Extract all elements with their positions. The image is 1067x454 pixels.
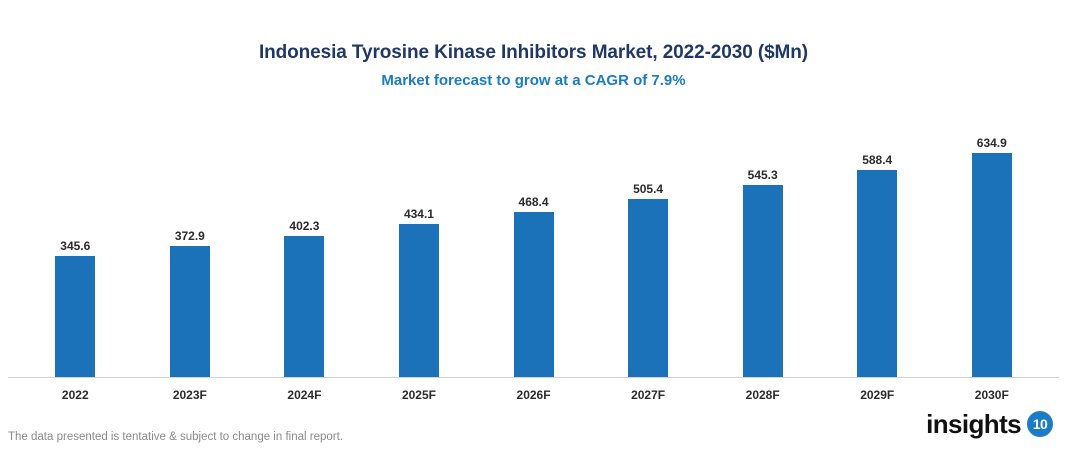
axis-baseline — [8, 377, 1059, 378]
bar-value-label: 372.9 — [175, 230, 205, 242]
x-axis-label: 2025F — [362, 379, 477, 402]
bar-2025F[interactable] — [399, 224, 439, 378]
x-axis-label: 2026F — [476, 379, 591, 402]
x-axis-label: 2024F — [247, 379, 362, 402]
chart-plot-area: 345.6 372.9 402.3 434.1 468.4 505.4 545.… — [0, 108, 1067, 378]
bar-group: 468.4 — [476, 108, 591, 378]
x-axis-label: 2028F — [705, 379, 820, 402]
bar-value-label: 434.1 — [404, 208, 434, 220]
x-axis-label: 2027F — [591, 379, 706, 402]
bar-group: 545.3 — [705, 108, 820, 378]
insights10-logo: insights 10 — [926, 411, 1053, 437]
bar-2024F[interactable] — [284, 236, 324, 379]
bar-group: 402.3 — [247, 108, 362, 378]
chart-header: Indonesia Tyrosine Kinase Inhibitors Mar… — [0, 0, 1067, 89]
x-axis-label: 2030F — [935, 379, 1050, 402]
bar-group: 634.9 — [935, 108, 1050, 378]
bar-2029F[interactable] — [857, 170, 897, 379]
bar-2022[interactable] — [55, 256, 95, 378]
chart-subtitle: Market forecast to grow at a CAGR of 7.9… — [0, 72, 1067, 89]
bar-group: 345.6 — [18, 108, 133, 378]
bar-value-label: 345.6 — [60, 240, 90, 252]
bar-value-label: 468.4 — [519, 196, 549, 208]
x-axis-label: 2029F — [820, 379, 935, 402]
chart-title: Indonesia Tyrosine Kinase Inhibitors Mar… — [0, 42, 1067, 64]
bar-2027F[interactable] — [628, 199, 668, 378]
bar-2026F[interactable] — [514, 212, 554, 378]
x-axis-label: 2022 — [18, 379, 133, 402]
bar-value-label: 634.9 — [977, 137, 1007, 149]
logo-wordmark: insights — [926, 411, 1021, 437]
bar-value-label: 402.3 — [289, 220, 319, 232]
bar-group: 505.4 — [591, 108, 706, 378]
bar-2028F[interactable] — [743, 185, 783, 378]
logo-badge-icon: 10 — [1027, 411, 1053, 437]
bar-2030F[interactable] — [972, 153, 1012, 378]
bar-value-label: 545.3 — [748, 169, 778, 181]
bar-2023F[interactable] — [170, 246, 210, 378]
disclaimer-text: The data presented is tentative & subjec… — [8, 431, 343, 443]
bar-value-label: 505.4 — [633, 183, 663, 195]
x-axis-labels: 2022 2023F 2024F 2025F 2026F 2027F 2028F… — [0, 379, 1067, 402]
x-axis-label: 2023F — [133, 379, 248, 402]
bar-group: 588.4 — [820, 108, 935, 378]
bar-group: 372.9 — [133, 108, 248, 378]
bar-value-label: 588.4 — [862, 154, 892, 166]
bar-series: 345.6 372.9 402.3 434.1 468.4 505.4 545.… — [0, 108, 1067, 378]
bar-group: 434.1 — [362, 108, 477, 378]
